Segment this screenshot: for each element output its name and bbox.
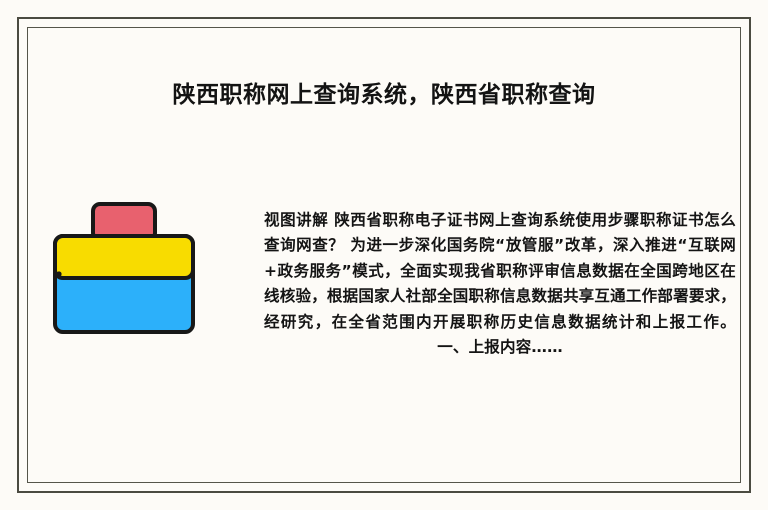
briefcase-band-shape xyxy=(55,236,193,278)
briefcase-icon xyxy=(48,192,200,340)
briefcase-side-dot xyxy=(56,271,61,276)
article-body: 视图讲解 陕西省职称电子证书网上查询系统使用步骤职称证书怎么查询网查？ 为进一步… xyxy=(264,208,736,360)
page-title: 陕西职称网上查询系统，陕西省职称查询 xyxy=(50,78,718,112)
page-root: 陕西职称网上查询系统，陕西省职称查询 视图讲解 陕西省职称电子证书网上查询系统使… xyxy=(0,0,768,510)
briefcase-illustration xyxy=(48,192,200,340)
